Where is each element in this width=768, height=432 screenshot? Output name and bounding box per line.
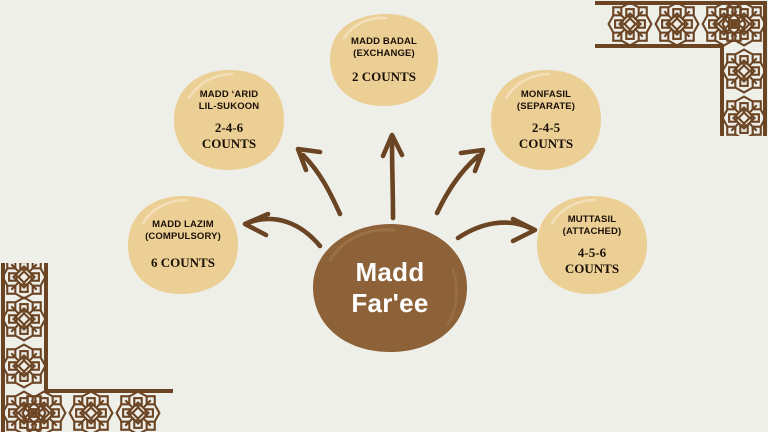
node-title: MUTTASIL (ATTACHED) <box>563 214 622 238</box>
node-madd-arid-content: MADD ‘ARID LIL-SUKOON 2-4-6 COUNTS <box>172 68 286 172</box>
center-label-line1: Madd <box>355 257 424 288</box>
node-monfasil[interactable]: MONFASIL (SEPARATE) 2-4-5 COUNTS <box>489 68 603 172</box>
arrow-to-madd-lazim <box>245 214 320 246</box>
center-node-label: Madd Far'ee <box>310 222 470 354</box>
node-counts: 4-5-6 COUNTS <box>565 245 619 276</box>
node-counts: 2-4-5 COUNTS <box>519 120 573 151</box>
arrow-to-madd-arid <box>298 149 340 214</box>
node-title: MADD LAZIM (COMPULSORY) <box>145 219 221 243</box>
node-counts: 2 COUNTS <box>352 69 416 84</box>
node-muttasil[interactable]: MUTTASIL (ATTACHED) 4-5-6 COUNTS <box>535 194 649 296</box>
node-madd-arid-lil-sukoon[interactable]: MADD ‘ARID LIL-SUKOON 2-4-6 COUNTS <box>172 68 286 172</box>
center-node-madd-faree[interactable]: Madd Far'ee <box>310 222 470 354</box>
node-counts: 2-4-6 COUNTS <box>202 120 256 151</box>
node-title: MONFASIL (SEPARATE) <box>517 89 575 113</box>
center-label-line2: Far'ee <box>351 288 428 319</box>
diagram-canvas: Madd Far'ee MADD BADAL (EXCHANGE) 2 COUN… <box>0 0 768 432</box>
node-madd-lazim[interactable]: MADD LAZIM (COMPULSORY) 6 COUNTS <box>126 194 240 296</box>
node-madd-badal-content: MADD BADAL (EXCHANGE) 2 COUNTS <box>328 12 440 108</box>
node-title: MADD BADAL (EXCHANGE) <box>351 36 417 60</box>
node-madd-lazim-content: MADD LAZIM (COMPULSORY) 6 COUNTS <box>126 194 240 296</box>
arrow-to-monfasil <box>437 150 483 213</box>
node-counts: 6 COUNTS <box>151 255 215 270</box>
node-title: MADD ‘ARID LIL-SUKOON <box>199 89 260 113</box>
node-madd-badal[interactable]: MADD BADAL (EXCHANGE) 2 COUNTS <box>328 12 440 108</box>
node-monfasil-content: MONFASIL (SEPARATE) 2-4-5 COUNTS <box>489 68 603 172</box>
arrow-to-madd-badal <box>383 135 402 218</box>
node-muttasil-content: MUTTASIL (ATTACHED) 4-5-6 COUNTS <box>535 194 649 296</box>
